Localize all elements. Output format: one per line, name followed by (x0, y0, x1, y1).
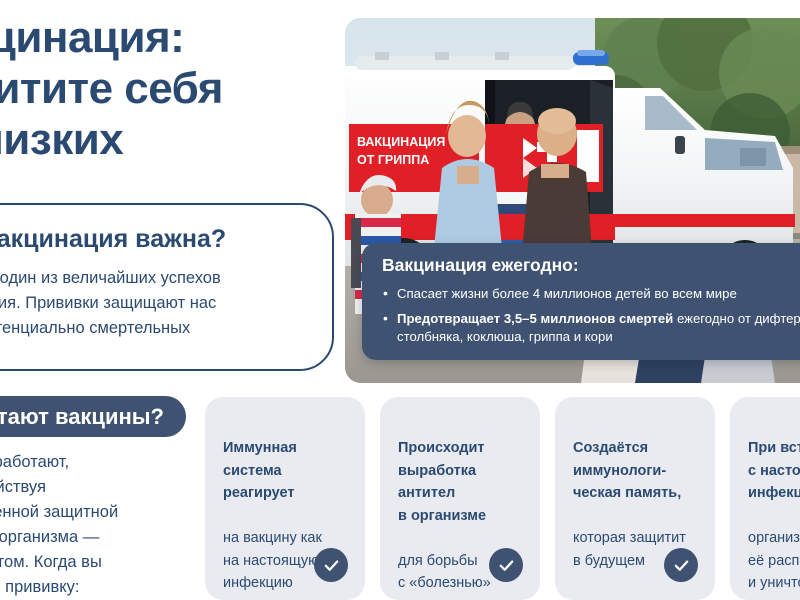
step-card-3-bold: Создаётся иммунологи- ческая память, (573, 437, 699, 504)
annual-bullet-1-text: Спасает жизни более 4 миллионов детей во… (397, 286, 737, 301)
annual-stats-list: Спасает жизни более 4 миллионов детей во… (382, 285, 800, 347)
how-vaccines-work-body: Вакцины работают, взаимодействуя с естес… (0, 450, 202, 600)
step-card-4-rest: организм её распознаёт и уничтожает (748, 527, 800, 594)
van-banner-line-2: ОТ ГРИППА (357, 153, 429, 167)
annual-bullet-2-line-2: столбняка, коклюша, гриппа и кори (397, 328, 800, 346)
why-vaccination-body: Вакцинация — один из величайших успехов … (0, 266, 306, 366)
step-card-3[interactable]: Создаётся иммунологи- ческая память, кот… (555, 397, 715, 600)
van-banner-line-1: ВАКЦИНАЦИЯ (357, 135, 445, 149)
annual-stats-title: Вакцинация ежегодно: (382, 255, 800, 276)
annual-stats-card: Вакцинация ежегодно: Спасает жизни более… (362, 243, 800, 360)
why-vaccination-title: Почему вакцинация важна? (0, 225, 306, 254)
annual-stats-bullet-1: Спасает жизни более 4 миллионов детей во… (382, 285, 800, 303)
check-icon (489, 548, 523, 582)
step-card-4[interactable]: При встрече с настоящей инфекцией органи… (730, 397, 800, 600)
step-card-4-bold: При встрече с настоящей инфекцией (748, 437, 800, 504)
step-card-2-bold: Происходит выработка антител в организме (398, 437, 524, 527)
annual-bullet-2-rest: ежегодно от дифтерии, (673, 311, 800, 326)
check-icon (314, 548, 348, 582)
step-card-1-bold: Иммунная система реагирует (223, 437, 349, 504)
step-card-2[interactable]: Происходит выработка антител в организме… (380, 397, 540, 600)
how-vaccines-work-pill: Как работают вакцины? (0, 396, 186, 437)
annual-stats-bullet-2: Предотвращает 3,5–5 миллионов смертей еж… (382, 310, 800, 346)
why-vaccination-card: Почему вакцинация важна? Вакцинация — од… (0, 203, 334, 371)
step-card-4-text: При встрече с настоящей инфекцией органи… (748, 415, 800, 600)
annual-bullet-2-bold: Предотвращает 3,5–5 миллионов смертей (397, 311, 673, 326)
page-title-line-1: Вакцинация: (0, 12, 382, 63)
page-title-line-2: защитите себя (0, 63, 382, 114)
check-icon (664, 548, 698, 582)
step-card-1[interactable]: Иммунная система реагирует на вакцину ка… (205, 397, 365, 600)
slide-root: Вакцинация: защитите себя и близких Поче… (0, 0, 800, 600)
page-title-line-3: и близких (0, 114, 382, 165)
page-title: Вакцинация: защитите себя и близких (0, 12, 382, 165)
